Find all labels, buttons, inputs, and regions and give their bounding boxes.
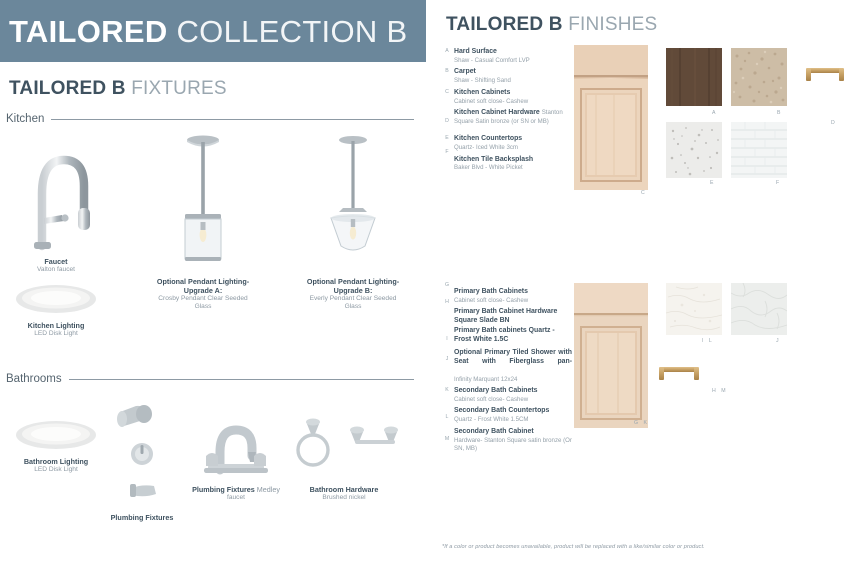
spec-name-main: Primary Bath Cabinet Hardware <box>454 308 557 315</box>
spec-item: C Kitchen Cabinets Cabinet soft close- C… <box>442 89 572 106</box>
swatch-bath-cabinet-door <box>574 283 648 428</box>
fixture-caption: Faucet <box>8 257 104 266</box>
fixture-faucet: Faucet Valton faucet <box>8 142 104 274</box>
spec-item: A Hard Surface Shaw - Casual Comfort LVP <box>442 48 572 65</box>
fixture-caption: Optional Pendant Lighting- Upgrade B: <box>305 277 401 295</box>
spec-desc: Shaw - Casual Comfort LVP <box>454 57 572 65</box>
disk-light-icon <box>14 282 98 316</box>
swatch-letter-hm: H M <box>712 388 728 394</box>
spec-letter: M <box>442 436 452 442</box>
spec-name: Primary Bath Cabinet Hardware Square Sla… <box>454 308 572 326</box>
swatch-letter-f: F <box>776 180 781 186</box>
fixture-sub: LED Disk Light <box>14 466 98 474</box>
spec-desc: Hardware- Stanton Square satin bronze (O… <box>454 437 572 453</box>
spec-name: Secondary Bath Countertops <box>454 407 572 416</box>
spec-letter: A <box>442 48 452 54</box>
shower-trim-icon <box>92 398 192 508</box>
spec-item: J Optional Primary Tiled Shower with Sea… <box>442 349 572 384</box>
fixture-lav-faucet: Plumbing Fixtures Medley faucet <box>190 412 282 502</box>
spec-letter: D <box>442 118 452 124</box>
spec-name: Kitchen Countertops <box>454 135 572 144</box>
fixture-sub: Valton faucet <box>8 266 104 274</box>
finishes-heading-bold: TAILORED B <box>446 14 563 35</box>
spec-name: Hard Surface <box>454 48 572 57</box>
disk-light-icon <box>14 418 98 452</box>
section-kitchen-label: Kitchen <box>6 113 44 125</box>
spec-item: E Kitchen Countertops Quartz- Iced White… <box>442 135 572 152</box>
swatch-letter-b: B <box>777 110 782 116</box>
section-bathrooms: Bathrooms <box>6 373 414 385</box>
swatch-kitchen-cabinet-door <box>574 45 648 190</box>
spec-item: G Primary Bath Cabinets Cabinet soft clo… <box>442 288 572 305</box>
spec-name: Primary Bath Cabinets <box>454 288 572 297</box>
swatch-kitchen-countertop-quartz <box>666 122 722 178</box>
fixture-sub: Everly Pendant Clear Seeded Glass <box>305 295 401 311</box>
spec-letter: J <box>442 356 452 362</box>
fixture-caption: Plumbing Fixtures <box>92 513 192 522</box>
lav-faucet-icon <box>190 412 282 480</box>
spec-name: Kitchen Tile Backsplash <box>454 156 572 165</box>
fixtures-panel: TAILORED COLLECTION B TAILORED B FIXTURE… <box>0 0 426 569</box>
section-divider <box>69 379 414 380</box>
spec-item: K Secondary Bath Cabinets Cabinet soft c… <box>442 387 572 404</box>
footnote-disclaimer: *If a color or product becomes unavailab… <box>442 544 705 550</box>
fixture-caption: Bathroom Lighting <box>14 457 98 466</box>
hero-title-bold: TAILORED <box>9 14 168 49</box>
fixtures-heading-light: FIXTURES <box>131 78 227 99</box>
fixture-caption-thin: Medley <box>257 485 280 494</box>
schoolhouse-pendant-icon <box>305 130 401 272</box>
hero-title: TAILORED COLLECTION B <box>0 16 407 47</box>
swatch-letter-a: A <box>712 110 717 116</box>
fixture-caption: Plumbing Fixtures Medley <box>190 485 282 494</box>
spec-letter: F <box>442 149 452 155</box>
spec-name-main: Secondary Bath Cabinet <box>454 428 534 435</box>
swatch-kitchen-tile-backsplash <box>731 122 787 178</box>
spec-item: B Carpet Shaw - Shifting Sand <box>442 68 572 85</box>
swatch-hard-surface-lvp <box>666 48 722 106</box>
section-kitchen: Kitchen <box>6 113 414 125</box>
section-divider <box>51 119 414 120</box>
swatch-letter-gk: G K <box>634 420 649 426</box>
finishes-panel: TAILORED B FINISHES A Hard Surface Shaw … <box>426 0 853 569</box>
fixture-bathroom-lighting: Bathroom Lighting LED Disk Light <box>14 418 98 474</box>
swatch-letter-il: I L <box>702 338 714 344</box>
spec-desc: Quartz- Iced White 3cm <box>454 144 572 152</box>
spec-item: F Kitchen Tile Backsplash Baker Blvd - W… <box>442 156 572 173</box>
towel-ring-bar-icon <box>285 408 403 480</box>
spec-letter: L <box>442 414 452 420</box>
fixture-pendant-b: Optional Pendant Lighting- Upgrade B: Ev… <box>305 130 401 311</box>
spec-name-main: Kitchen Cabinet Hardware <box>454 109 540 116</box>
spec-item: H Primary Bath Cabinet Hardware Square S… <box>442 308 572 326</box>
spec-name-inline: Square Slade BN <box>454 317 510 324</box>
spec-letter: E <box>442 135 452 141</box>
fixture-bathroom-hardware: Bathroom Hardware Brushed nickel <box>285 408 403 502</box>
spec-name: Secondary Bath Cabinets <box>454 387 572 396</box>
spec-desc: Infinity Marquant 12x24 <box>454 376 572 384</box>
spec-name: Kitchen Cabinets <box>454 89 572 98</box>
spec-item: M Secondary Bath Cabinet Hardware- Stant… <box>442 428 572 453</box>
swatch-optional-tiled-shower <box>731 283 787 335</box>
spec-name: Secondary Bath Cabinet <box>454 428 572 437</box>
finishes-heading-light: FINISHES <box>568 14 657 35</box>
spec-name: Optional Primary Tiled Shower with Seat … <box>454 349 572 376</box>
fixture-sub: faucet <box>190 494 282 502</box>
fixture-sub: LED Disk Light <box>14 330 98 338</box>
spec-name: Carpet <box>454 68 572 77</box>
fixture-pendant-a: Optional Pendant Lighting- Upgrade A: Cr… <box>155 130 251 311</box>
swatch-letter-e: E <box>710 180 715 186</box>
swatch-letter-d: D <box>831 120 837 126</box>
bath-spec-list: G Primary Bath Cabinets Cabinet soft clo… <box>442 288 572 456</box>
spec-letter: I <box>442 336 452 342</box>
fixture-caption: Kitchen Lighting <box>14 321 98 330</box>
spec-desc: Baker Blvd - White Picket <box>454 164 572 172</box>
swatch-bath-cabinet-hardware-pull <box>654 355 706 389</box>
fixture-caption: Optional Pendant Lighting- Upgrade A: <box>155 277 251 295</box>
spec-desc: Quartz - Frost White 1.5CM <box>454 416 572 424</box>
spec-desc: Cabinet soft close- Cashew <box>454 396 572 404</box>
section-bathrooms-label: Bathrooms <box>6 373 62 385</box>
spec-letter: B <box>442 68 452 74</box>
spec-item: D Kitchen Cabinet Hardware Stanton Squar… <box>442 109 572 127</box>
swatch-primary-bath-quartz <box>666 283 722 335</box>
fixtures-heading-bold: TAILORED B <box>9 78 126 99</box>
fixture-plumbing-shower: Plumbing Fixtures <box>92 398 192 522</box>
cylinder-pendant-icon <box>155 130 251 272</box>
swatch-letter-j: J <box>776 338 781 344</box>
kitchen-spec-list: A Hard Surface Shaw - Casual Comfort LVP… <box>442 48 572 176</box>
spec-desc: Cabinet soft close- Cashew <box>454 297 572 305</box>
fixture-sub: Crosby Pendant Clear Seeded Glass <box>155 295 251 311</box>
spec-letter: H <box>442 299 452 305</box>
fixtures-heading: TAILORED B FIXTURES <box>9 78 227 100</box>
spec-name: Primary Bath cabinets Quartz - Frost Whi… <box>454 327 572 345</box>
spec-name: Kitchen Cabinet Hardware Stanton Square … <box>454 109 572 127</box>
spec-letter: G <box>442 282 452 288</box>
swatch-kitchen-cabinet-hardware-pull <box>801 58 849 90</box>
finishes-heading: TAILORED B FINISHES <box>446 14 657 36</box>
spec-item: I Primary Bath cabinets Quartz - Frost W… <box>442 327 572 345</box>
spec-desc: Cabinet soft close- Cashew <box>454 98 572 106</box>
hero-title-light: COLLECTION B <box>176 14 407 49</box>
fixture-kitchen-lighting: Kitchen Lighting LED Disk Light <box>14 282 98 338</box>
fixture-caption: Bathroom Hardware <box>285 485 403 494</box>
spec-desc: Shaw - Shifting Sand <box>454 77 572 85</box>
swatch-carpet <box>731 48 787 106</box>
fixture-sub: Brushed nickel <box>285 494 403 502</box>
swatch-letter-c: C <box>641 190 647 196</box>
spec-letter: K <box>442 387 452 393</box>
spec-item: L Secondary Bath Countertops Quartz - Fr… <box>442 407 572 424</box>
fixture-caption-main: Plumbing Fixtures <box>192 485 255 494</box>
faucet-icon <box>8 142 104 252</box>
spec-letter: C <box>442 89 452 95</box>
hero-banner: TAILORED COLLECTION B <box>0 0 426 62</box>
